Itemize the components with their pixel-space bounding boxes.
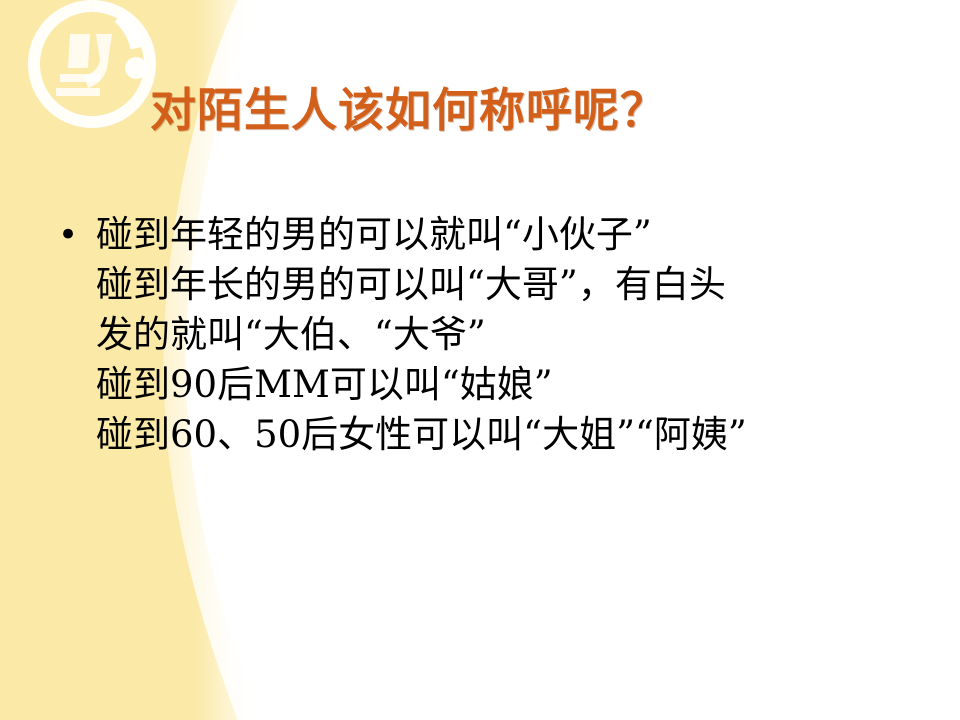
slide-canvas: 对陌生人该如何称呼呢？ • 碰到年轻的男的可以就叫“小伙子” 碰到年长的男的可以… [0,0,960,720]
body-line-4: 碰到90后MM可以叫“姑娘” [96,360,932,410]
body-line-3: 发的就叫“大伯、“大爷” [96,310,932,360]
bullet-text-lines: 碰到年轻的男的可以就叫“小伙子” 碰到年长的男的可以叫“大哥”，有白头 发的就叫… [96,210,932,460]
slide-title: 对陌生人该如何称呼呢？ [150,82,940,138]
body-line-2: 碰到年长的男的可以叫“大哥”，有白头 [96,260,932,310]
ring-logo-icon [18,0,166,138]
bullet-list-item: • 碰到年轻的男的可以就叫“小伙子” 碰到年长的男的可以叫“大哥”，有白头 发的… [52,210,932,460]
bullet-marker-icon: • [52,210,96,260]
body-content: • 碰到年轻的男的可以就叫“小伙子” 碰到年长的男的可以叫“大哥”，有白头 发的… [52,210,932,460]
body-line-1: 碰到年轻的男的可以就叫“小伙子” [96,210,932,260]
body-line-5: 碰到60、50后女性可以叫“大姐”“阿姨” [96,410,932,460]
